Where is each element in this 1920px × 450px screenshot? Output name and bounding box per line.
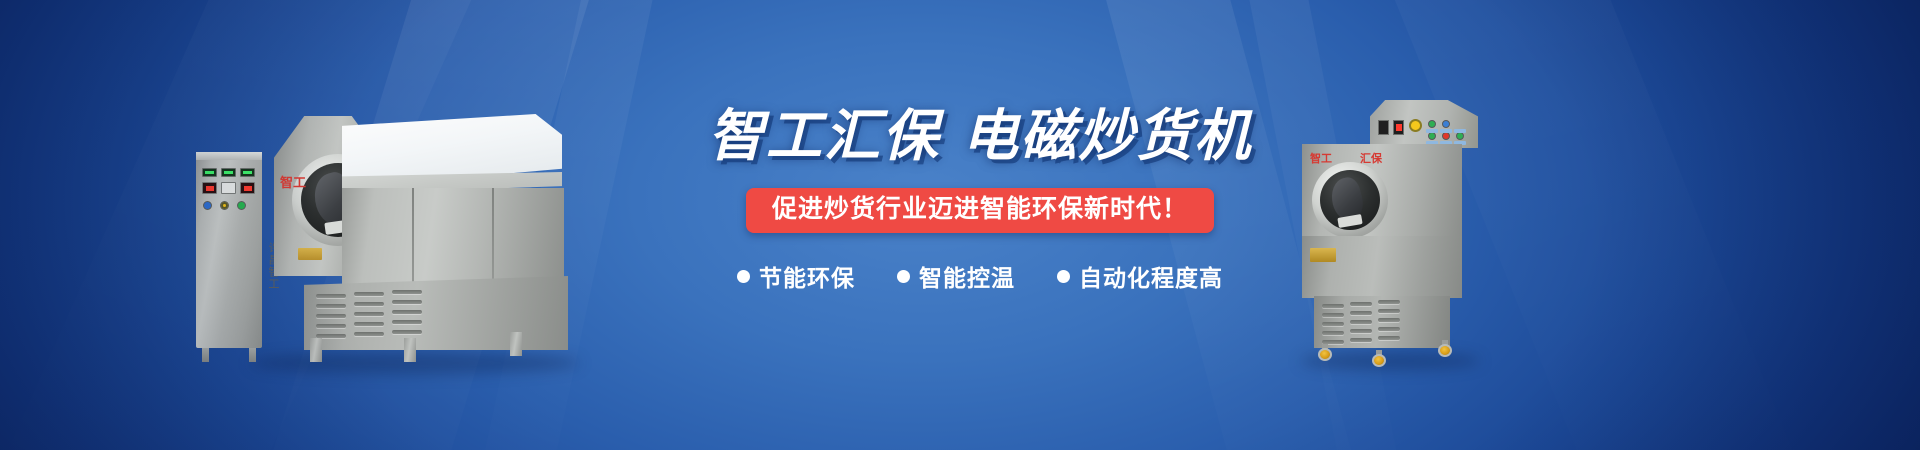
product-hero-banner: 许昌智工 智工 汇保 [0,0,1920,450]
button-label [1426,129,1438,133]
button-label [1440,129,1452,133]
meter-row [202,168,255,177]
subtitle-row: 促进炒货行业迈进智能环保新时代！ [700,188,1260,233]
caster-wheel [1318,344,1332,360]
button-row [203,201,246,210]
meter-gauge [202,168,217,177]
right-drum-porthole [1312,162,1388,238]
page-title: 智工汇保电磁炒货机 [700,108,1260,164]
bullet-dot-icon [1057,270,1070,283]
feature-label: 智能控温 [919,259,1015,293]
right-brand-mark-2: 汇保 [1360,150,1382,166]
right-control-panel [1378,118,1470,144]
support-foot [510,332,522,356]
meter-gauge [221,168,236,177]
subtitle-badge: 促进炒货行业迈进智能环保新时代！ [746,188,1214,233]
caster-wheel [1438,340,1452,356]
green-button [1456,132,1464,140]
red-button [1442,132,1450,140]
green-button [1428,132,1436,140]
left-control-panel [202,168,256,222]
warning-label-plate [1310,248,1336,262]
feature-list: 节能环保 智能控温 自动化程度高 [700,259,1260,293]
feature-item-automation: 自动化程度高 [1057,259,1223,293]
power-display [240,182,255,194]
left-machine-image: 许昌智工 智工 汇保 [196,100,596,362]
bullet-dot-icon [897,270,910,283]
blue-button [1442,120,1450,128]
drum-opening [1320,170,1380,230]
emergency-stop-button [1409,119,1422,132]
left-brand-mark-1: 智工 [280,172,306,191]
green-button [1428,120,1436,128]
feature-label: 自动化程度高 [1079,259,1223,293]
button-label [1454,129,1466,133]
leg [249,348,256,362]
banner-copy-block: 智工汇保电磁炒货机 促进炒货行业迈进智能环保新时代！ 节能环保 智能控温 自动化… [700,108,1260,293]
feature-label: 节能环保 [759,259,855,293]
warning-label-plate [298,248,322,260]
feature-item-smart-temperature: 智能控温 [897,259,1015,293]
leg [202,348,209,362]
bullet-dot-icon [737,270,750,283]
right-machine-image: 智工 汇保 [1288,100,1488,362]
headline-part-2: 电磁炒货机 [962,104,1252,167]
meter-gauge [240,168,255,177]
cabinet-top-edge [196,152,262,160]
timer-display [221,182,236,194]
temperature-display [202,182,217,194]
display-unit [1378,120,1389,135]
emergency-stop-button [220,201,229,210]
support-foot [404,338,416,362]
selector-switch [203,201,212,210]
start-button [237,201,246,210]
left-lower-body [304,276,568,350]
right-brand-mark-1: 智工 [1310,150,1332,166]
headline-part-1: 智工汇保 [708,104,940,167]
cabinet-legs [202,348,256,362]
caster-wheel [1372,350,1386,366]
right-base-cabinet [1314,296,1450,348]
temperature-display [1393,120,1404,135]
display-row [202,182,255,194]
feature-item-energy-saving: 节能环保 [737,259,855,293]
right-lower-body [1302,236,1462,298]
support-foot [310,338,322,362]
